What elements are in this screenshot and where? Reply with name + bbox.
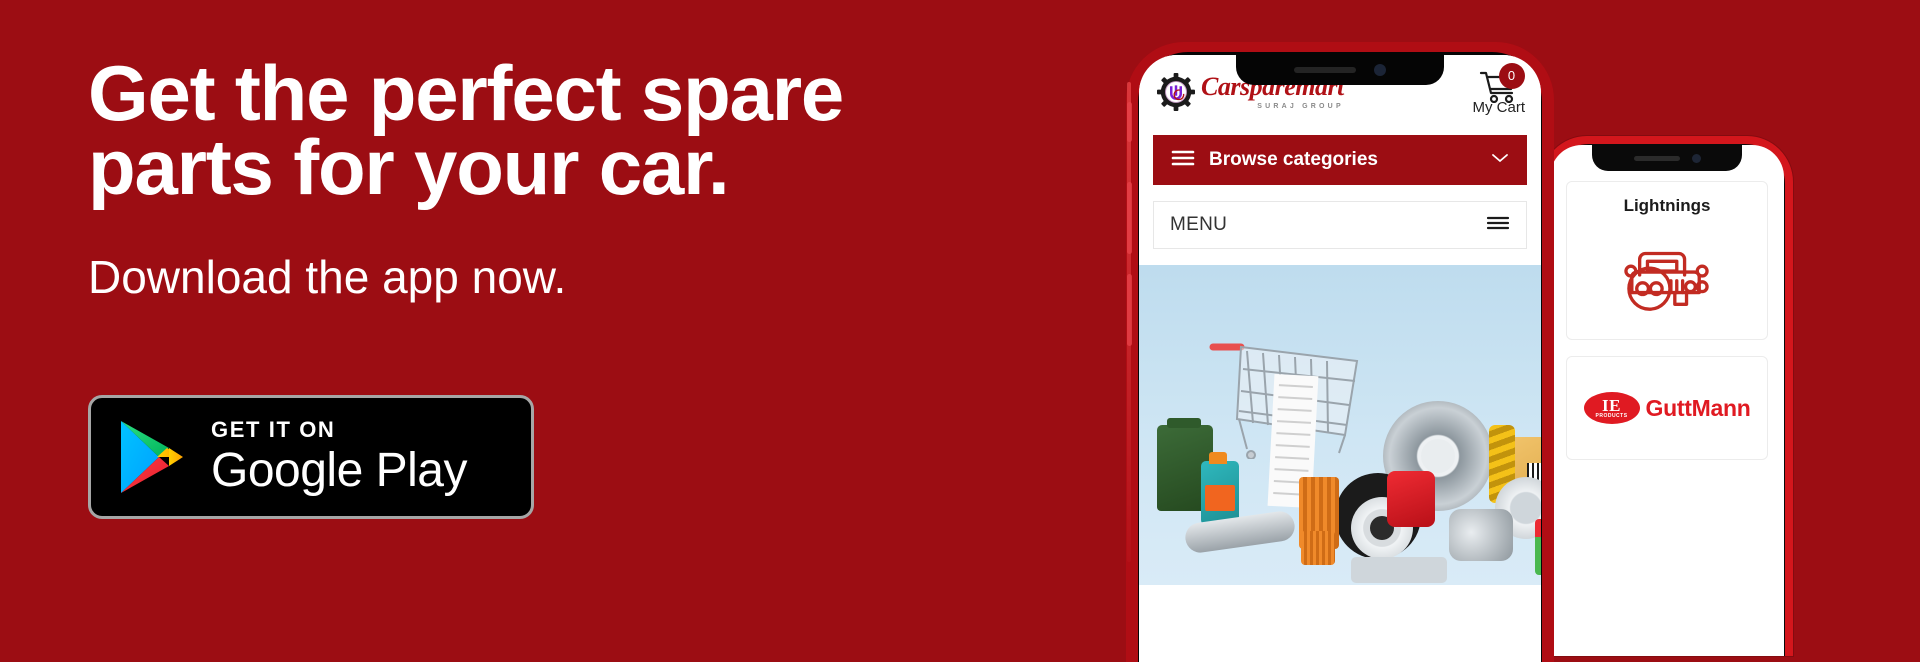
brand-name-label: GuttMann <box>1646 395 1751 422</box>
spray-can-illustration <box>1535 519 1541 575</box>
menu-toggle-row[interactable]: MENU <box>1153 201 1527 249</box>
phone-notch <box>1592 145 1742 171</box>
browse-categories-label: Browse categories <box>1209 149 1491 171</box>
ie-products-logo-icon: IE PRODUCTS <box>1584 392 1640 424</box>
page-headline: Get the perfect spare parts for your car… <box>88 56 1088 204</box>
phone-screen-primary: Carsparemart SURAJ GROUP 0 My Cart <box>1139 55 1541 662</box>
category-card-title: Lightnings <box>1577 196 1757 216</box>
head-gasket-illustration <box>1351 557 1447 583</box>
chevron-down-icon <box>1491 151 1509 169</box>
google-play-badge-button[interactable]: GET IT ON Google Play <box>88 395 534 519</box>
phone-screen-secondary: Lightnings IE PRODUCTS <box>1550 145 1784 656</box>
phone-volume-down-button[interactable] <box>1127 274 1132 346</box>
brand-card-guttmann[interactable]: IE PRODUCTS GuttMann <box>1566 356 1768 460</box>
gear-logo-icon <box>1157 73 1195 111</box>
phone-mute-switch[interactable] <box>1127 102 1132 142</box>
car-headlight-icon <box>1577 232 1757 321</box>
hero-product-image <box>1139 265 1541 585</box>
brake-caliper-illustration <box>1387 471 1435 527</box>
speaker-grille-icon <box>1294 67 1356 73</box>
promo-copy-block: Get the perfect spare parts for your car… <box>88 56 1088 304</box>
motor-oil-bottle-illustration <box>1201 461 1239 525</box>
app-logo-tagline: SURAJ GROUP <box>1201 103 1344 110</box>
front-camera-icon <box>1374 64 1386 76</box>
front-camera-icon <box>1692 154 1701 163</box>
hamburger-icon <box>1171 149 1195 172</box>
cart-button[interactable]: 0 My Cart <box>1473 69 1526 116</box>
phone-notch <box>1236 55 1444 85</box>
speaker-grille-icon <box>1634 156 1680 161</box>
fuel-filter-illustration <box>1301 531 1335 565</box>
page-subheadline: Download the app now. <box>88 250 1088 304</box>
menu-label: MENU <box>1170 214 1227 236</box>
google-play-triangle-icon <box>117 418 187 496</box>
hamburger-icon[interactable] <box>1486 215 1510 236</box>
phone-volume-up-button[interactable] <box>1127 182 1132 254</box>
google-play-big-label: Google Play <box>211 447 467 495</box>
browse-categories-button[interactable]: Browse categories <box>1153 135 1527 185</box>
phone-mockup-primary: Carsparemart SURAJ GROUP 0 My Cart <box>1126 42 1554 662</box>
turbocharger-illustration <box>1449 509 1513 561</box>
phone-mockup-secondary: Lightnings IE PRODUCTS <box>1541 136 1793 656</box>
cart-label: My Cart <box>1473 99 1526 116</box>
google-play-small-label: GET IT ON <box>211 419 467 441</box>
ie-logo-main-text: IE <box>1602 397 1621 414</box>
ie-logo-sub-text: PRODUCTS <box>1596 414 1628 419</box>
cart-badge-count: 0 <box>1499 63 1525 89</box>
category-card-lightnings[interactable]: Lightnings <box>1566 181 1768 340</box>
